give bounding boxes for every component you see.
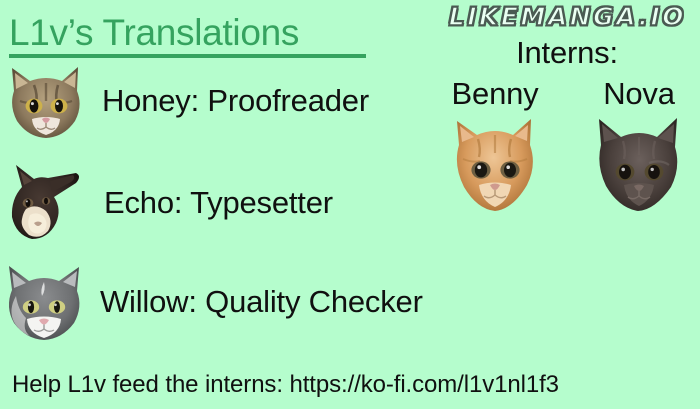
staff-label-echo: Echo: Typesetter <box>104 185 333 221</box>
intern-card-benny: Benny <box>447 78 543 215</box>
staff-row: Echo: Typesetter <box>4 164 333 242</box>
staff-label-honey: Honey: Proofreader <box>102 83 369 119</box>
interns-grid: Benny <box>434 78 700 215</box>
staff-row: Honey: Proofreader <box>4 62 369 140</box>
honey-cat-face-icon <box>4 61 88 141</box>
nova-kitten-face-icon <box>591 115 687 215</box>
title-underline <box>9 54 366 58</box>
staff-label-willow: Willow: Quality Checker <box>100 284 423 320</box>
intern-card-nova: Nova <box>591 78 687 215</box>
benny-kitten-face-icon <box>447 115 543 215</box>
staff-row: Willow: Quality Checker <box>0 263 423 341</box>
interns-panel: Interns: Benny <box>434 36 700 215</box>
willow-cat-face-icon <box>0 262 84 342</box>
page-title: L1v’s Translations <box>9 13 299 53</box>
likemanga-watermark: LIKEMANGA.IO <box>449 2 686 31</box>
intern-name-nova: Nova <box>591 78 687 111</box>
credits-page: LIKEMANGA.IO L1v’s Translations <box>0 0 700 409</box>
interns-heading: Interns: <box>434 36 700 70</box>
intern-name-benny: Benny <box>447 78 543 111</box>
support-footer-note: Help L1v feed the interns: https://ko-fi… <box>12 371 559 399</box>
echo-cat-face-icon <box>4 163 88 243</box>
